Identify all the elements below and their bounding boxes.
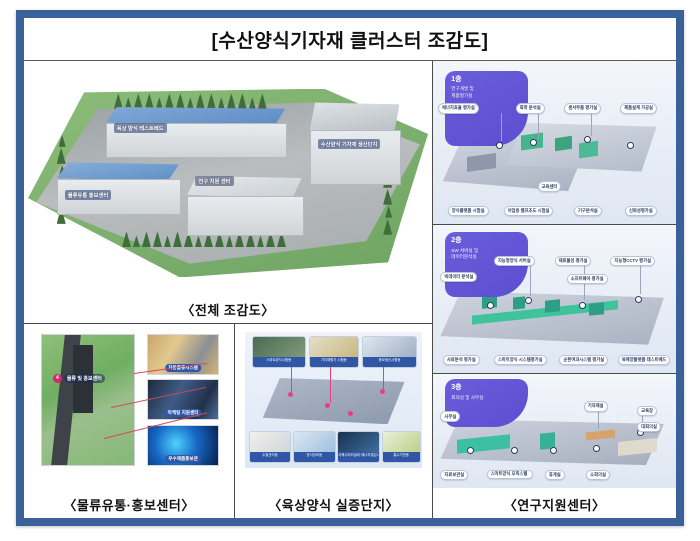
panel-floor-3: 3층 회의실 및 사무실 bbox=[433, 374, 676, 518]
floor-1-chip-bottom-3: 기구분석실 bbox=[574, 206, 602, 216]
floor-2-room-c bbox=[545, 299, 560, 312]
board-grid: 육상 양식 테스트베드 물류유통 홍보센터 bbox=[24, 60, 676, 518]
floor-2-chip-top-3: 지능형CCTV 평가실 bbox=[610, 256, 655, 266]
demo-pin-3 bbox=[348, 411, 353, 416]
floor-3-chip-mid-1: 사무실 bbox=[440, 411, 460, 421]
left-column: 육상 양식 테스트베드 물류유통 홍보센터 bbox=[24, 61, 433, 518]
floor-1-node-3 bbox=[584, 136, 591, 143]
floor-2-room-d bbox=[589, 302, 604, 315]
photo-caption-product-showroom: 우수제품홍보관 bbox=[165, 455, 201, 463]
demo-card-top-2-caption: 기자재평가 시험동 bbox=[310, 357, 358, 367]
map-pin-logistics: 4 물류 및 홍보센터 bbox=[53, 374, 105, 383]
caption-research-center: 〈연구지원센터〉 bbox=[433, 495, 676, 514]
title-band: [수산양식기자재 클러스터 조감도] bbox=[24, 18, 676, 60]
floor-3-node-4 bbox=[593, 445, 600, 452]
screenshot-root: [수산양식기자재 클러스터 조감도] bbox=[0, 0, 700, 541]
demo-pin-4 bbox=[380, 389, 385, 394]
demo-arrow-1 bbox=[291, 367, 292, 391]
floor-2-chip-bottom-2: 스마트양식 시스템평가실 bbox=[494, 355, 547, 365]
demo-illustration: 스마트양식시험동 기자재평가 시험동 종묘생산시험동 bbox=[245, 332, 422, 468]
floor-3-chip-bottom-2: 스마트양식 오피스텔 bbox=[487, 470, 533, 479]
photo-marketing-center: 마케팅 지원센터 bbox=[147, 379, 220, 420]
floor-1-chip-bottom-1: 양식플랫폼 시험실 bbox=[448, 206, 489, 216]
floor-2-leader-1 bbox=[530, 266, 531, 296]
panel-floor-1: 1층 연구개발 및 제품평가실 bbox=[433, 61, 676, 225]
demo-card-top-3-caption: 종묘생산시험동 bbox=[363, 357, 416, 367]
building-label-logistics: 물류유통 홍보센터 bbox=[65, 190, 111, 200]
floor-1-chip-bottom-4: 신뢰성평가실 bbox=[625, 206, 657, 216]
floor-1-leader-1 bbox=[501, 113, 502, 141]
demo-card-bottom-3-caption: 사육수처리설비·에너지절감시스템 bbox=[338, 452, 379, 462]
building-logistics bbox=[57, 162, 179, 215]
floor-1-chip-top-2: 화학 분석실 bbox=[516, 103, 545, 113]
bottom-row: 4 물류 및 홍보센터 자동물류시스템 bbox=[24, 324, 432, 518]
right-column-floorplans: 1층 연구개발 및 제품평가실 bbox=[433, 61, 676, 518]
demo-card-top-2-photo bbox=[310, 337, 358, 357]
floor-1-number: 1층 bbox=[451, 76, 522, 84]
floor-3-chip-top-1: 기자재실 bbox=[584, 401, 608, 411]
production-roof bbox=[310, 102, 400, 134]
floor-3-chip-bottom-4: 소회의실 bbox=[586, 470, 610, 480]
floor-2-node-4 bbox=[635, 296, 642, 303]
demo-pin-2 bbox=[325, 403, 330, 408]
demo-card-bottom-2-photo bbox=[294, 432, 335, 452]
floor-2-chip-mid-1: 빅데이터 분석실 bbox=[440, 272, 477, 282]
demo-card-bottom-2-caption: 양식장비동 bbox=[294, 452, 335, 462]
demo-card-bottom-4: 통수기관동 bbox=[382, 431, 421, 463]
floor-2-chip-mid-2: 소프트웨어 평가실 bbox=[567, 274, 608, 284]
building-label-testbed: 육상 양식 테스트베드 bbox=[114, 123, 167, 133]
panel-floor-2: 2층 SW 서버실 및 데이터분석실 bbox=[433, 225, 676, 374]
floor-1-leader-2 bbox=[538, 113, 539, 139]
demo-card-bottom-3: 사육수처리설비·에너지절감시스템 bbox=[337, 431, 380, 463]
floor-1-chip-top-1: 에너지효율 평가실 bbox=[438, 103, 479, 113]
floor-2-room-b bbox=[513, 297, 525, 310]
demo-card-top-1: 스마트양식시험동 bbox=[252, 336, 305, 368]
caption-demo: 〈육상양식 실증단지〉 bbox=[235, 495, 432, 514]
map-pin-label: 물류 및 홍보센터 bbox=[64, 374, 105, 383]
panel-logistics-pr-center: 4 물류 및 홍보센터 자동물류시스템 bbox=[24, 324, 235, 518]
floor-3-number: 3층 bbox=[451, 384, 522, 392]
demo-card-top-1-caption: 스마트양식시험동 bbox=[253, 357, 304, 367]
photo-product-showroom: 우수제품홍보관 bbox=[147, 425, 220, 466]
demo-pin-1 bbox=[288, 392, 293, 397]
demo-card-bottom-4-photo bbox=[383, 432, 420, 452]
floor-3-illustration: 3층 회의실 및 사무실 bbox=[433, 374, 676, 488]
floor-2-node-1 bbox=[487, 302, 494, 309]
floor-1-subtitle: 연구개발 및 제품평가실 bbox=[451, 86, 522, 98]
floor-2-chip-top-1: 지능형양식 서버실 bbox=[494, 256, 535, 266]
floor-2-illustration: 2층 SW 서버실 및 데이터분석실 bbox=[433, 225, 676, 373]
floor-3-chip-bottom-3: 휴게실 bbox=[545, 470, 565, 480]
building-label-production: 수산양식 기자재 생산단지 bbox=[318, 139, 381, 149]
site-map-photo: 4 물류 및 홍보센터 bbox=[41, 334, 135, 466]
demo-card-top-3-photo bbox=[363, 337, 416, 357]
logistics-photo-area: 4 물류 및 홍보센터 자동물류시스템 bbox=[41, 334, 218, 464]
aerial-illustration: 육상 양식 테스트베드 물류유통 홍보센터 bbox=[24, 61, 432, 291]
demo-card-top-3: 종묘생산시험동 bbox=[362, 336, 417, 368]
floor-3-node-3 bbox=[550, 447, 557, 454]
floor-2-leader-3 bbox=[640, 266, 641, 294]
demo-card-bottom-1: 수질관리동 bbox=[249, 431, 292, 463]
outer-frame: [수산양식기자재 클러스터 조감도] bbox=[16, 10, 684, 526]
floor-3-subtitle: 회의실 및 사무실 bbox=[451, 395, 522, 401]
caption-logistics: 〈물류유통·홍보센터〉 bbox=[24, 495, 234, 514]
frame-inner: [수산양식기자재 클러스터 조감도] bbox=[24, 18, 676, 518]
photo-caption-marketing-center: 마케팅 지원센터 bbox=[165, 409, 202, 417]
caption-aerial: 〈전체 조감도〉 bbox=[24, 300, 432, 319]
floor-3-chip-mid-2: 대회의실 bbox=[637, 422, 661, 432]
floor-3-chip-top-2: 교육장 bbox=[637, 406, 657, 416]
map-pin-number: 4 bbox=[53, 374, 62, 383]
demo-arrow-3 bbox=[383, 367, 384, 389]
floor-3-node-1 bbox=[467, 447, 474, 454]
floor-3-chip-bottom-1: 자료보관실 bbox=[440, 470, 468, 480]
demo-card-bottom-2: 양식장비동 bbox=[293, 431, 336, 463]
floor-1-chip-top-3: 센서부품 평가실 bbox=[564, 103, 601, 113]
floor-2-node-3 bbox=[579, 302, 586, 309]
demo-card-top-1-photo bbox=[253, 337, 304, 357]
floor-2-chip-top-2: 재료물성 평가실 bbox=[555, 256, 592, 266]
floor-1-chip-mid-1: 교육센터 bbox=[538, 181, 562, 191]
demo-card-bottom-3-photo bbox=[338, 432, 379, 452]
floor-3-node-2 bbox=[511, 447, 518, 454]
floor-2-chip-bottom-1: 사료분석 평가실 bbox=[443, 355, 480, 365]
floor-1-chip-top-4: 제품설계 가공실 bbox=[620, 103, 657, 113]
panel-demo-complex: 스마트양식시험동 기자재평가 시험동 종묘생산시험동 bbox=[235, 324, 432, 518]
demo-card-top-2: 기자재평가 시험동 bbox=[309, 336, 359, 368]
demo-card-bottom-1-caption: 수질관리동 bbox=[250, 452, 291, 462]
panel-aerial-view: 육상 양식 테스트베드 물류유통 홍보센터 bbox=[24, 61, 432, 324]
floor-2-chip-bottom-4: 육해양플랫폼 테스트베드 bbox=[618, 355, 671, 365]
demo-card-bottom-1-photo bbox=[250, 432, 291, 452]
floor-1-chip-bottom-2: 어업용 램프조도 시험실 bbox=[504, 206, 554, 216]
demo-card-bottom-4-caption: 통수기관동 bbox=[383, 452, 420, 462]
floor-1-illustration: 1층 연구개발 및 제품평가실 bbox=[433, 61, 676, 224]
floor-1-leader-3 bbox=[591, 113, 592, 136]
floor-2-number: 2층 bbox=[451, 237, 522, 245]
floor-3-leader-1 bbox=[598, 410, 599, 428]
demo-arrow-2 bbox=[330, 367, 331, 402]
building-label-research: 연구 지원 센터 bbox=[195, 176, 233, 186]
page-title: [수산양식기자재 클러스터 조감도] bbox=[212, 26, 489, 53]
floor-2-chip-bottom-3: 순환여과시스템 평가실 bbox=[559, 355, 608, 365]
research-wall bbox=[187, 196, 303, 236]
